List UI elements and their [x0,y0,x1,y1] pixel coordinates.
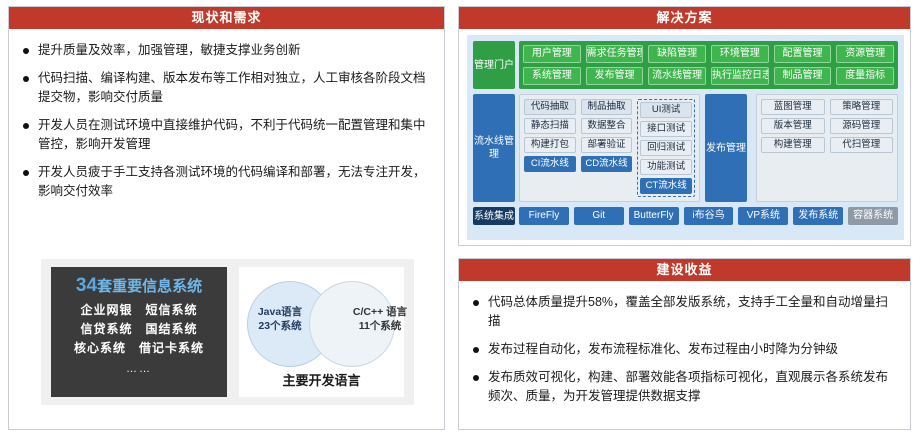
integration-item[interactable]: ButterFly [629,207,679,225]
portal-chip[interactable]: 需求任务管理 [586,45,644,63]
release-cell[interactable]: 源码管理 [830,118,894,134]
panel-benefits: 建设收益 代码总体质量提升58%，覆盖全部发版系统，支持手工全量和自动增量扫描 … [458,258,911,430]
release-row: 构建管理 代扫管理 [761,137,893,153]
portal-chip[interactable]: 配置管理 [774,45,832,63]
bullet-text: 代码总体质量提升58%，覆盖全部发版系统，支持手工全量和自动增量扫描 [488,293,896,331]
architecture-diagram: 管理门户 用户管理 需求任务管理 缺陷管理 环境管理 配置管理 资源管理 系统管… [467,35,904,240]
pipeline-cell[interactable]: 制品抽取 [581,99,633,115]
pipeline-columns: 代码抽取 静态扫描 构建打包 CI流水线 制品抽取 数据整合 部署验证 CD流水… [519,94,700,202]
venn-cpp-value: 11个系统 [359,320,402,332]
venn-java-name: Java语言 [258,306,302,318]
portal-chip[interactable]: 缺陷管理 [648,45,706,63]
left-panel-title: 现状和需求 [9,7,444,29]
release-cell[interactable]: 代扫管理 [830,137,894,153]
pipeline-cell-label: CT流水线 [640,178,692,194]
systems-ellipsis: …… [126,363,152,375]
pipeline-cell[interactable]: 回归测试 [640,140,692,156]
portal-chip[interactable]: 执行监控日志 [711,67,769,85]
systems-count-number: 34 [76,275,97,296]
portal-modules: 用户管理 需求任务管理 缺陷管理 环境管理 配置管理 资源管理 系统管理 发布管… [519,41,898,89]
release-row: 版本管理 源码管理 [761,118,893,134]
slide-root: 现状和需求 提升质量及效率，加强管理，敏捷支撑业务创新 代码扫描、编译构建、版本… [0,0,919,436]
release-cell[interactable]: 版本管理 [761,118,825,134]
integration-item[interactable]: 发布系统 [793,207,843,225]
portal-chip[interactable]: 资源管理 [836,45,894,63]
systems-row: 企业网银 短信系统 [80,301,197,320]
release-row: 蓝图管理 策略管理 [761,99,893,115]
list-item: 开发人员疲于手工支持各测试环境的代码编译和部署，无法专注开发，影响交付效率 [23,163,430,201]
pipeline-side-label: 流水线管理 [473,94,515,202]
integration-section: 系统集成 FireFly Git ButterFly i布谷鸟 VP系统 发布系… [473,207,898,225]
venn-diagram: Java语言 23个系统 C/C++ 语言 11个系统 [247,281,407,367]
portal-chip[interactable]: 系统管理 [523,67,581,85]
venn-cpp-name: C/C++ 语言 [353,306,407,318]
pipeline-cell[interactable]: 部署验证 [581,137,633,153]
left-bullet-list: 提升质量及效率，加强管理，敏捷支撑业务创新 代码扫描、编译构建、版本发布等工作相… [9,29,444,201]
integration-item[interactable]: VP系统 [738,207,788,225]
systems-count-suffix: 套重要信息系统 [97,278,202,295]
systems-card: 34套重要信息系统 企业网银 短信系统 信贷系统 国结系统 核心系统 借记卡系统… [51,267,227,397]
bullet-text: 代码扫描、编译构建、版本发布等工作相对独立，人工审核各阶段文档提交物，影响交付质… [38,69,430,107]
right-bottom-panel-title: 建设收益 [459,259,910,281]
pipeline-section: 流水线管理 代码抽取 静态扫描 构建打包 CI流水线 制品抽取 数据整合 部署验… [473,94,898,202]
portal-row-1: 用户管理 需求任务管理 缺陷管理 环境管理 配置管理 资源管理 [523,45,894,63]
integration-item-highlighted[interactable]: 容器系统 [848,207,898,225]
bullet-dot-icon [23,76,29,82]
systems-count-heading: 34套重要信息系统 [76,275,202,297]
bullet-dot-icon [473,347,479,353]
pipeline-cell[interactable]: 数据整合 [581,118,633,134]
list-item: 提升质量及效率，加强管理，敏捷支撑业务创新 [23,41,430,60]
panel-current-status: 现状和需求 提升质量及效率，加强管理，敏捷支撑业务创新 代码扫描、编译构建、版本… [8,6,445,430]
pipeline-cell-label: CD流水线 [581,156,633,172]
portal-chip[interactable]: 制品管理 [774,67,832,85]
list-item: 发布过程自动化，发布流程标准化、发布过程由小时降为分钟级 [473,340,896,359]
benefits-bullet-list: 代码总体质量提升58%，覆盖全部发版系统，支持手工全量和自动增量扫描 发布过程自… [459,281,910,406]
venn-label-cpp: C/C++ 语言 11个系统 [351,305,409,333]
pipeline-cell[interactable]: 接口测试 [640,121,692,137]
bullet-text: 发布质效可视化，构建、部署效能各项指标可视化，直观展示各系统发布频次、质量，为开… [488,368,896,406]
list-item: 发布质效可视化，构建、部署效能各项指标可视化，直观展示各系统发布频次、质量，为开… [473,368,896,406]
portal-chip[interactable]: 用户管理 [523,45,581,63]
release-side-label: 发布管理 [705,94,747,202]
list-item: 开发人员在测试环境中直接维护代码，不利于代码统一配置管理和集中管控，影响开发管理 [23,116,430,154]
systems-row: 核心系统 借记卡系统 [74,339,204,358]
portal-chip[interactable]: 环境管理 [711,45,769,63]
bullet-dot-icon [23,123,29,129]
pipeline-cell[interactable]: 功能测试 [640,159,692,175]
integration-item[interactable]: Git [574,207,624,225]
bullet-dot-icon [23,170,29,176]
panel-solution: 解决方案 管理门户 用户管理 需求任务管理 缺陷管理 环境管理 配置管理 资源管… [458,6,911,246]
right-top-panel-title: 解决方案 [459,7,910,29]
pipeline-cell[interactable]: 构建打包 [524,137,576,153]
pipeline-cell[interactable]: 代码抽取 [524,99,576,115]
release-modules: 蓝图管理 策略管理 版本管理 源码管理 构建管理 代扫管理 [756,94,898,202]
bullet-dot-icon [473,300,479,306]
venn-card: Java语言 23个系统 C/C++ 语言 11个系统 主要开发语言 [239,267,404,397]
pipeline-cell-label: CI流水线 [524,156,576,172]
portal-section: 管理门户 用户管理 需求任务管理 缺陷管理 环境管理 配置管理 资源管理 系统管… [473,41,898,89]
bullet-text: 发布过程自动化，发布流程标准化、发布过程由小时降为分钟级 [488,340,896,359]
venn-label-java: Java语言 23个系统 [249,305,311,333]
list-item: 代码总体质量提升58%，覆盖全部发版系统，支持手工全量和自动增量扫描 [473,293,896,331]
integration-side-label: 系统集成 [473,207,515,225]
venn-java-value: 23个系统 [258,320,301,332]
portal-side-label: 管理门户 [473,41,515,89]
portal-chip[interactable]: 流水线管理 [648,67,706,85]
left-summary-area: 34套重要信息系统 企业网银 短信系统 信贷系统 国结系统 核心系统 借记卡系统… [41,259,414,405]
pipeline-column-cd: 制品抽取 数据整合 部署验证 CD流水线 [581,99,633,197]
portal-chip[interactable]: 发布管理 [586,67,644,85]
bullet-text: 开发人员在测试环境中直接维护代码，不利于代码统一配置管理和集中管控，影响开发管理 [38,116,430,154]
integration-item[interactable]: i布谷鸟 [684,207,734,225]
pipeline-column-ci: 代码抽取 静态扫描 构建打包 CI流水线 [524,99,576,197]
pipeline-cell[interactable]: 静态扫描 [524,118,576,134]
pipeline-cell[interactable]: UI测试 [640,102,692,118]
bullet-dot-icon [473,375,479,381]
bullet-text: 提升质量及效率，加强管理，敏捷支撑业务创新 [38,41,430,60]
systems-row: 信贷系统 国结系统 [80,320,197,339]
venn-caption: 主要开发语言 [239,370,404,389]
pipeline-and-release: 代码抽取 静态扫描 构建打包 CI流水线 制品抽取 数据整合 部署验证 CD流水… [519,94,898,202]
portal-chip[interactable]: 度量指标 [836,67,894,85]
bullet-text: 开发人员疲于手工支持各测试环境的代码编译和部署，无法专注开发，影响交付效率 [38,163,430,201]
portal-row-2: 系统管理 发布管理 流水线管理 执行监控日志 制品管理 度量指标 [523,67,894,85]
list-item: 代码扫描、编译构建、版本发布等工作相对独立，人工审核各阶段文档提交物，影响交付质… [23,69,430,107]
integration-items: FireFly Git ButterFly i布谷鸟 VP系统 发布系统 容器系… [519,207,898,225]
integration-item[interactable]: FireFly [519,207,569,225]
bullet-dot-icon [23,48,29,54]
release-cell[interactable]: 构建管理 [761,137,825,153]
release-cell[interactable]: 蓝图管理 [761,99,825,115]
pipeline-column-ct: UI测试 接口测试 回归测试 功能测试 CT流水线 [637,99,695,197]
release-cell[interactable]: 策略管理 [830,99,894,115]
